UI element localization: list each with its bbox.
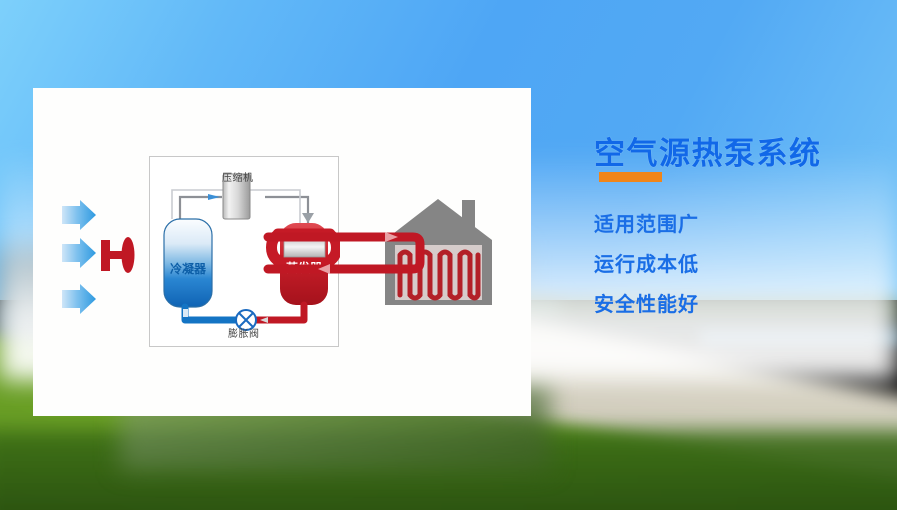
house-heating-graphics bbox=[0, 0, 897, 510]
page-title: 空气源热泵系统 bbox=[594, 128, 822, 173]
feature-bullet-3: 安全性能好 bbox=[594, 288, 699, 317]
feature-bullet-1: 适用范围广 bbox=[594, 208, 699, 237]
feature-bullet-2: 运行成本低 bbox=[594, 248, 699, 277]
title-underline bbox=[599, 172, 662, 182]
house-icon bbox=[385, 199, 492, 305]
slide-canvas: 冷凝器 蒸发器 压缩机 膨胀阀 空气源热泵系统 适用范围广 运行成本低 安全性能… bbox=[0, 0, 897, 510]
